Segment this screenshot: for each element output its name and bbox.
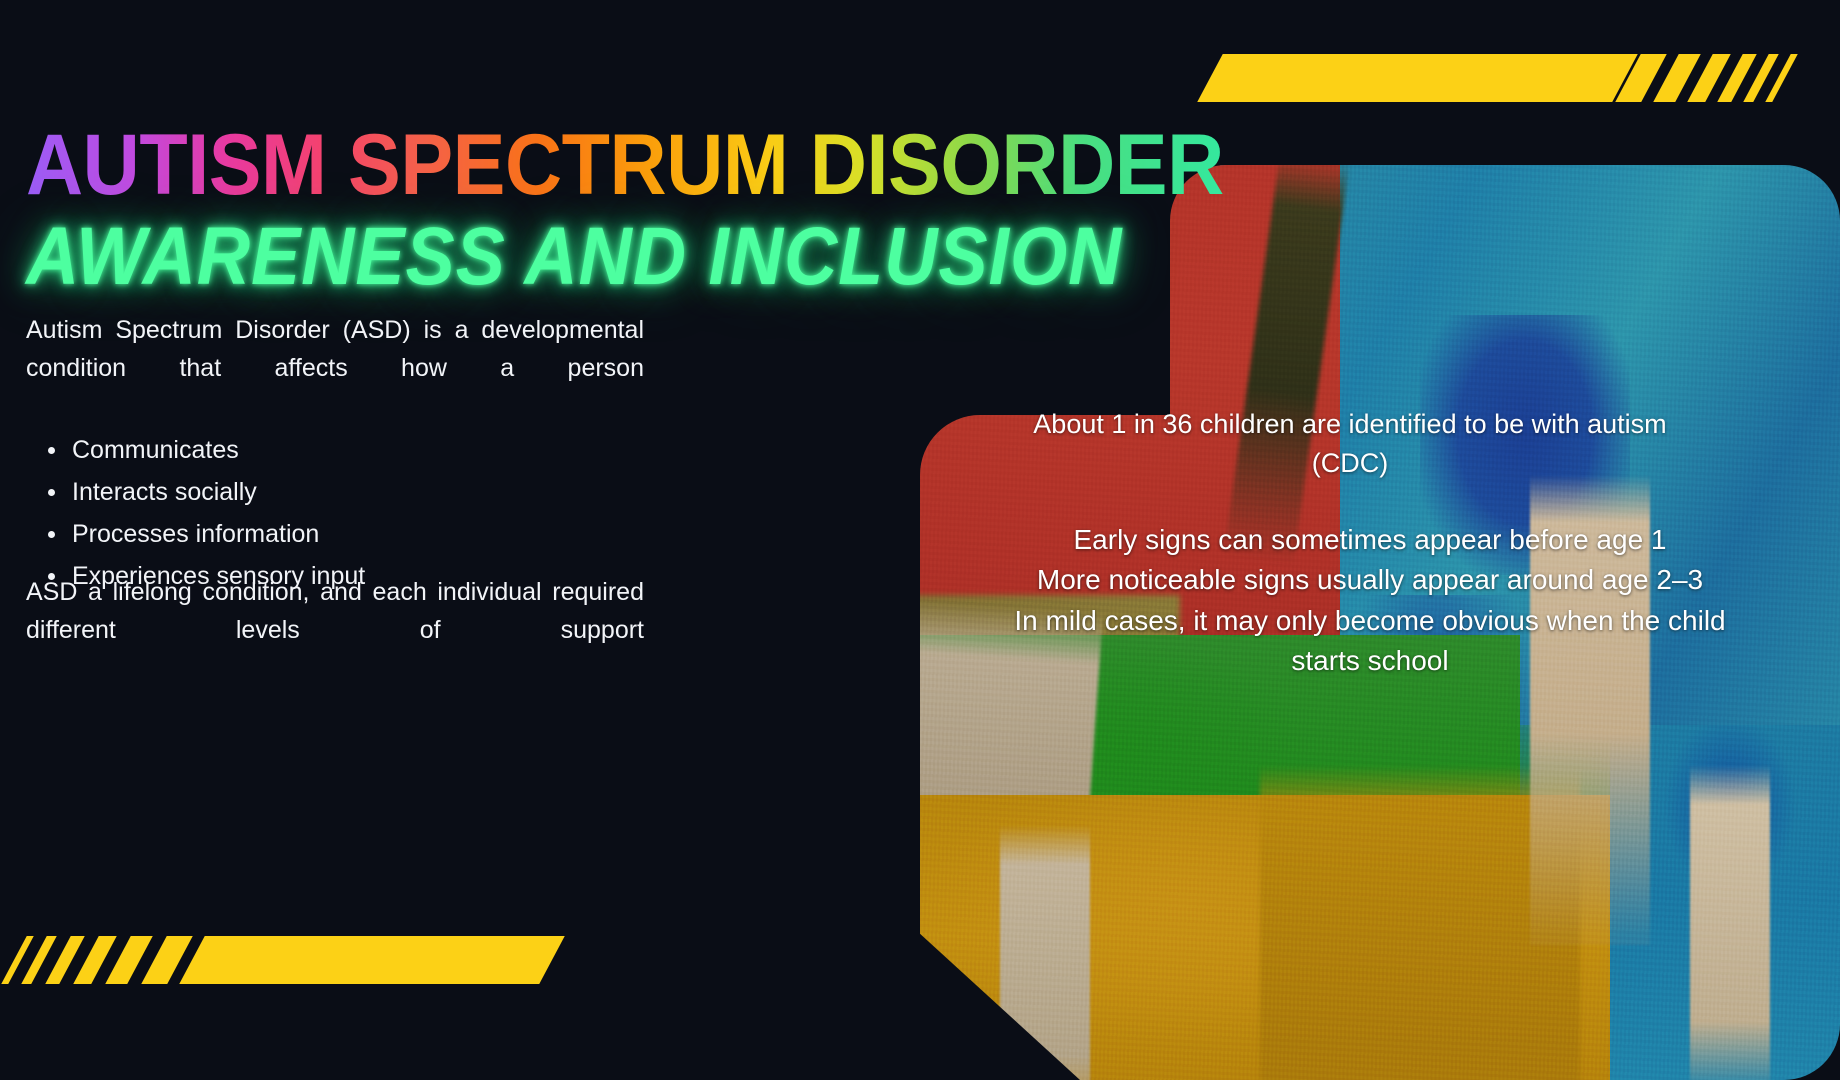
early-signs-line: More noticeable signs usually appear aro… xyxy=(1010,560,1730,600)
closing-paragraph: ASD a lifelong condition, and each indiv… xyxy=(26,574,644,687)
painting-layers-lower xyxy=(920,415,1840,1080)
paint-texture-overlay xyxy=(1170,165,1840,415)
early-signs-line: Early signs can sometimes appear before … xyxy=(1010,520,1730,560)
list-item: Interacts socially xyxy=(26,473,644,511)
artwork-upper-block xyxy=(1170,165,1840,415)
early-signs-block: Early signs can sometimes appear before … xyxy=(1010,520,1730,681)
decoration-bar-main xyxy=(1197,54,1638,102)
left-content-block: Autism Spectrum Disorder (ASD) is a deve… xyxy=(26,312,644,599)
page-subtitle: AWARENESS AND INCLUSION xyxy=(26,216,1122,298)
characteristics-list: Communicates Interacts socially Processe… xyxy=(26,431,644,595)
poster-canvas: AUTISM SPECTRUM DISORDER AWARENESS AND I… xyxy=(0,0,1840,1080)
early-signs-line: In mild cases, it may only become obviou… xyxy=(1010,601,1730,682)
page-title: AUTISM SPECTRUM DISORDER xyxy=(26,122,1224,208)
decoration-bar-main-b xyxy=(179,936,565,984)
decoration-top-right xyxy=(1210,54,1830,102)
list-item: Communicates xyxy=(26,431,644,469)
painting-layers-upper xyxy=(1170,165,1840,415)
decoration-bottom-left xyxy=(0,936,570,984)
list-item: Processes information xyxy=(26,515,644,553)
paint-texture-overlay-lower xyxy=(920,415,1840,1080)
intro-paragraph: Autism Spectrum Disorder (ASD) is a deve… xyxy=(26,312,644,425)
artwork-lower-block xyxy=(920,415,1840,1080)
statistic-text: About 1 in 36 children are identified to… xyxy=(1030,405,1670,484)
